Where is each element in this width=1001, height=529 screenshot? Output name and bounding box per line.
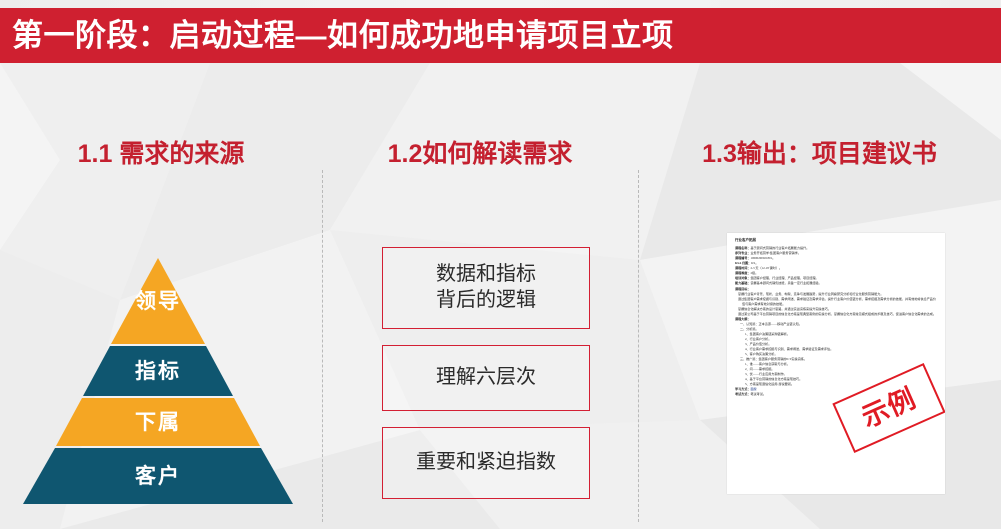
- pyramid-tier-metric-label: 指标: [135, 361, 181, 382]
- document-footer-label: 学习方式：: [735, 387, 750, 391]
- document-footer-value: 笔试考试。: [750, 392, 765, 396]
- document-field-value: 10000200021801。: [750, 256, 775, 260]
- document-objective-item: 通过某公司基于平台营销项目的信息化方案呈现典型案例的实操分析，掌握信息化方案常见…: [735, 312, 937, 317]
- concept-box-priority-index[interactable]: 重要和紧迫指数: [382, 427, 590, 499]
- pyramid-tier-subordinate: 下属: [23, 398, 293, 446]
- column-divider-2: [638, 170, 639, 522]
- document-field-label: KSA 归属：: [735, 261, 751, 265]
- document-field-label: 课程名称：: [735, 246, 750, 250]
- column-divider-1: [322, 170, 323, 522]
- document-field: 能力基础：掌握基本顾问式销售技能，具备一定行业拓展经验。: [735, 281, 937, 286]
- document-field-value: KS。: [751, 261, 758, 265]
- document-field-label: 序列专业：: [735, 251, 750, 255]
- document-title: 行业客户拓展: [735, 238, 937, 244]
- document-field-label: 课程时间：: [735, 266, 750, 270]
- pyramid-tier-customer: 客户: [23, 448, 293, 504]
- page-title: 第一阶段：启动过程—如何成功地申请项目立项: [0, 20, 674, 51]
- document-field-value: 业务开拓营学/集团客户服务营销学。: [750, 251, 800, 255]
- example-stamp-label: 示例: [858, 384, 920, 431]
- document-field-label: 培训对象：: [735, 276, 750, 280]
- concept-box-six-levels-label: 理解六层次: [436, 365, 536, 391]
- concept-box-data-logic[interactable]: 数据和指标 背后的逻辑: [382, 247, 590, 329]
- concept-box-data-logic-label: 数据和指标 背后的逻辑: [436, 262, 536, 313]
- document-fields: 课程名称：基于顾问式营销的行业客户拓展能力提升。 序列专业：业务开拓营学/集团客…: [735, 246, 937, 286]
- column-heading-2: 1.2如何解读需求: [322, 134, 638, 170]
- concept-box-six-levels[interactable]: 理解六层次: [382, 345, 590, 411]
- pyramid-tier-subordinate-label: 下属: [135, 412, 181, 433]
- document-field-label: 能力基础：: [735, 281, 750, 285]
- document-objective-item: 通过集团客户需求挖掘与识别、需求阐述、需求验证及需求评估，提升行业客户价值链分析…: [735, 297, 937, 307]
- column-heading-1: 1.1 需求的来源: [0, 134, 322, 170]
- slide-canvas: 第一阶段：启动过程—如何成功地申请项目立项 1.1 需求的来源 1.2如何解读需…: [0, 0, 1001, 529]
- document-field-value: 基于顾问式营销的行业客户拓展能力提升。: [750, 246, 809, 250]
- concept-box-priority-index-label: 重要和紧迫指数: [416, 450, 556, 476]
- document-field-label: 课程编号：: [735, 256, 750, 260]
- document-field-value: 2级。: [750, 271, 758, 275]
- pyramid-tier-customer-label: 客户: [135, 466, 181, 487]
- document-field-value: 2-3 天（12-18 课时）。: [750, 266, 781, 270]
- title-banner: 第一阶段：启动过程—如何成功地申请项目立项: [0, 8, 1001, 63]
- pyramid-tier-leader-label: 领导: [135, 291, 181, 312]
- pyramid-tier-metric: 指标: [23, 346, 293, 396]
- document-body: 行业客户拓展 课程名称：基于顾问式营销的行业客户拓展能力提升。 序列专业：业务开…: [727, 233, 945, 494]
- project-proposal-document-preview[interactable]: 行业客户拓展 课程名称：基于顾问式营销的行业客户拓展能力提升。 序列专业：业务开…: [727, 233, 945, 494]
- document-field-value: 集团客户经理、行业经理、产品经理、项目经理。: [750, 276, 818, 280]
- document-field-value: 掌握基本顾问式销售技能，具备一定行业拓展经验。: [750, 281, 821, 285]
- document-footer-label: 考试方式：: [735, 392, 750, 396]
- requirement-source-pyramid: 领导 指标 下属 客户: [23, 258, 293, 504]
- pyramid-tier-leader: 领导: [23, 258, 293, 344]
- column-heading-3: 1.3输出：项目建议书: [638, 134, 1001, 170]
- document-field-label: 课程难度：: [735, 271, 750, 275]
- document-footer-value: 面授: [750, 387, 756, 391]
